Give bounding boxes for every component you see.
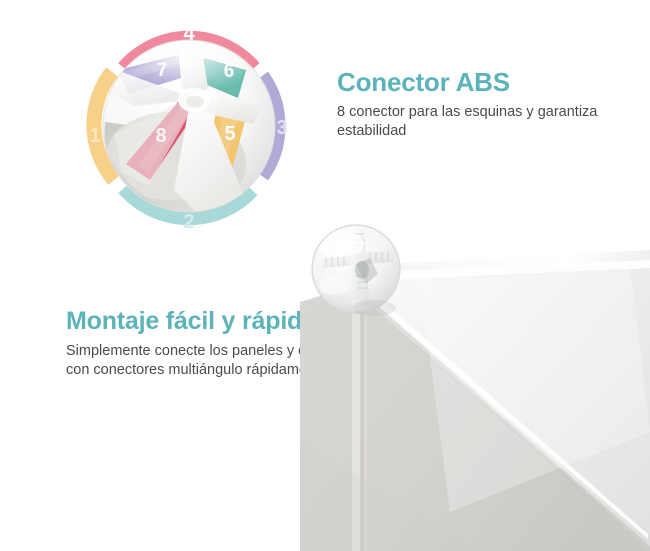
connector-diagram: 4 3 2 1 [78,14,300,240]
corner-connector-ball [312,225,400,313]
feature-title-connector: Conector ABS [337,68,637,97]
infographic-page: 4 3 2 1 [0,0,650,551]
feature-block-connector: Conector ABS 8 conector para las esquina… [337,68,637,141]
product-photo-playpen-corner [300,212,650,551]
segment-number-2: 2 [183,211,194,233]
segment-number-1: 1 [89,125,100,147]
segment-number-5: 5 [224,123,235,145]
feature-description-connector: 8 conector para las esquinas y garantiza… [337,103,637,142]
segment-number-3: 3 [276,117,287,139]
